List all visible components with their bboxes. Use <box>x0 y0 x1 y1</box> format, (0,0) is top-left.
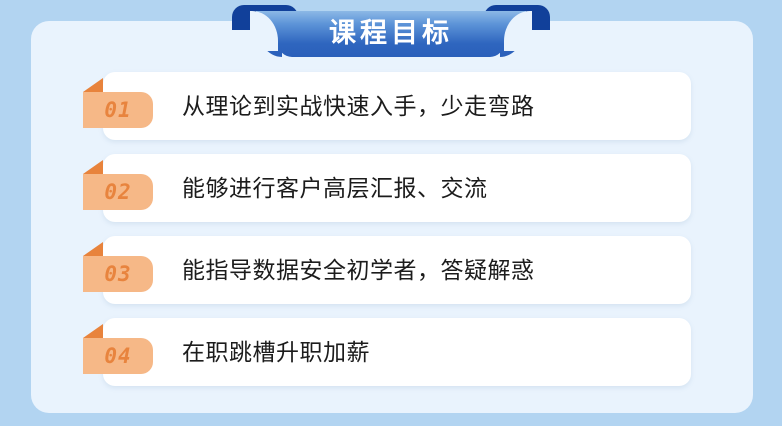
goal-number: 01 <box>83 92 153 128</box>
goal-label: 从理论到实战快速入手，少走弯路 <box>182 72 535 140</box>
goal-number: 02 <box>83 174 153 210</box>
badge-fold-icon <box>83 324 103 338</box>
goal-number: 04 <box>83 338 153 374</box>
badge-fold-icon <box>83 242 103 256</box>
title-ribbon: 课程目标 <box>232 5 550 53</box>
goal-item-03: 03 能指导数据安全初学者，答疑解惑 <box>103 236 691 304</box>
page-title: 课程目标 <box>232 5 550 57</box>
goal-label: 在职跳槽升职加薪 <box>182 318 370 386</box>
goal-label: 能指导数据安全初学者，答疑解惑 <box>182 236 535 304</box>
goal-label: 能够进行客户高层汇报、交流 <box>182 154 488 222</box>
slide-root: 课程目标 01 从理论到实战快速入手，少走弯路 02 能够进行客户高层汇报、交流… <box>0 0 782 426</box>
goal-number: 03 <box>83 256 153 292</box>
goal-number-badge: 03 <box>83 256 153 292</box>
goal-list: 01 从理论到实战快速入手，少走弯路 02 能够进行客户高层汇报、交流 03 能… <box>0 0 782 426</box>
goal-number-badge: 02 <box>83 174 153 210</box>
goal-number-badge: 04 <box>83 338 153 374</box>
goal-number-badge: 01 <box>83 92 153 128</box>
badge-fold-icon <box>83 78 103 92</box>
goal-item-04: 04 在职跳槽升职加薪 <box>103 318 691 386</box>
badge-fold-icon <box>83 160 103 174</box>
goal-item-01: 01 从理论到实战快速入手，少走弯路 <box>103 72 691 140</box>
goal-item-02: 02 能够进行客户高层汇报、交流 <box>103 154 691 222</box>
